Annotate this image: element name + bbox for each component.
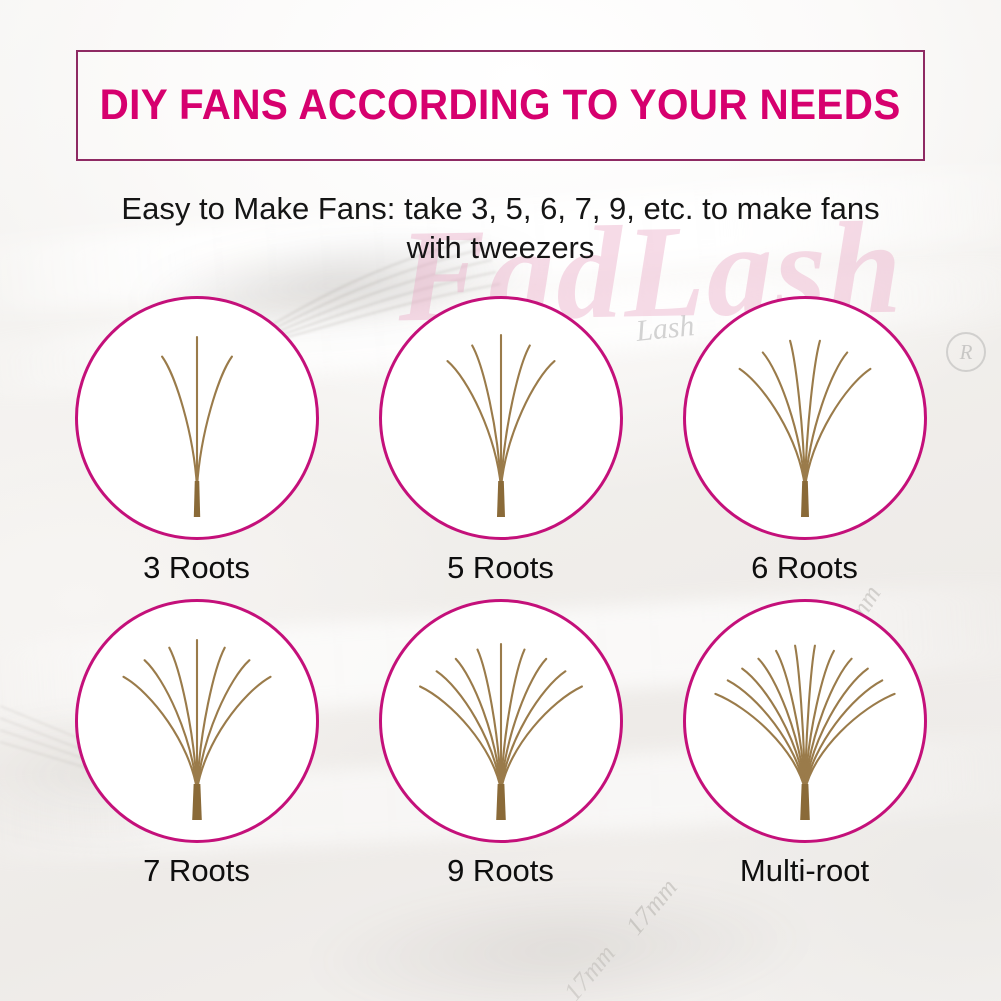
lash-strand — [420, 687, 501, 791]
lash-strand — [197, 357, 232, 487]
infographic-canvas: FadLash Lash R 17mm 17mm 17mm DIY FANS A… — [0, 0, 1001, 1001]
lash-fan-base — [496, 784, 506, 820]
lash-strand — [501, 671, 565, 790]
fan-grid-row: 3 Roots 5 Roots 6 Roots — [0, 296, 1001, 583]
fan-label: 3 Roots — [143, 552, 250, 583]
lash-strand — [436, 671, 500, 790]
fan-cell[interactable]: 6 Roots — [675, 296, 935, 583]
lash-strand — [742, 669, 805, 790]
lash-strand — [197, 677, 271, 790]
lash-fan-base — [800, 784, 810, 820]
lash-fan-drawing — [382, 299, 620, 537]
lash-strand — [472, 346, 501, 488]
fan-circle-6-roots — [683, 296, 927, 540]
lash-strand — [805, 669, 868, 790]
lash-strand — [805, 353, 847, 488]
fan-label: 6 Roots — [751, 552, 858, 583]
subtitle-line-1: Easy to Make Fans: take 3, 5, 6, 7, 9, e… — [60, 190, 941, 229]
lash-fan-drawing — [686, 602, 924, 840]
lash-strand — [501, 346, 530, 488]
lash-fan-drawing — [686, 299, 924, 537]
fan-grid-row: 7 Roots 9 Roots Multi-root — [0, 599, 1001, 886]
lash-fan-base — [801, 481, 809, 517]
fan-circle-7-roots — [75, 599, 319, 843]
lash-strand — [727, 680, 804, 790]
fan-label: 5 Roots — [447, 552, 554, 583]
lash-strand — [501, 687, 582, 791]
title-banner: DIY FANS ACCORDING TO YOUR NEEDS — [76, 50, 925, 161]
fan-circle-5-roots — [379, 296, 623, 540]
lash-fan-base — [192, 784, 202, 820]
subtitle-line-2: with tweezers — [60, 229, 941, 268]
fan-label: 9 Roots — [447, 855, 554, 886]
lash-strand — [805, 680, 882, 790]
subtitle-block: Easy to Make Fans: take 3, 5, 6, 7, 9, e… — [60, 190, 941, 268]
lash-strand — [123, 677, 197, 790]
fan-cell[interactable]: 9 Roots — [371, 599, 631, 886]
fan-label: Multi-root — [740, 855, 869, 886]
fan-cell[interactable]: 3 Roots — [67, 296, 327, 583]
fan-grid: 3 Roots 5 Roots 6 Roots 7 Roots 9 Roots — [0, 296, 1001, 886]
lash-fan-base — [193, 481, 199, 517]
page-title: DIY FANS ACCORDING TO YOUR NEEDS — [100, 81, 901, 130]
fan-cell[interactable]: Multi-root — [675, 599, 935, 886]
fan-cell[interactable]: 7 Roots — [67, 599, 327, 886]
fan-cell[interactable]: 5 Roots — [371, 296, 631, 583]
fan-label: 7 Roots — [143, 855, 250, 886]
lash-fan-drawing — [382, 602, 620, 840]
fan-circle-9-roots — [379, 599, 623, 843]
lash-fan-drawing — [78, 299, 316, 537]
lash-strand — [762, 353, 804, 488]
lash-fan-drawing — [78, 602, 316, 840]
lash-fan-base — [497, 481, 505, 517]
fan-circle-multi-root — [683, 599, 927, 843]
lash-strand — [162, 357, 197, 487]
fan-circle-3-roots — [75, 296, 319, 540]
